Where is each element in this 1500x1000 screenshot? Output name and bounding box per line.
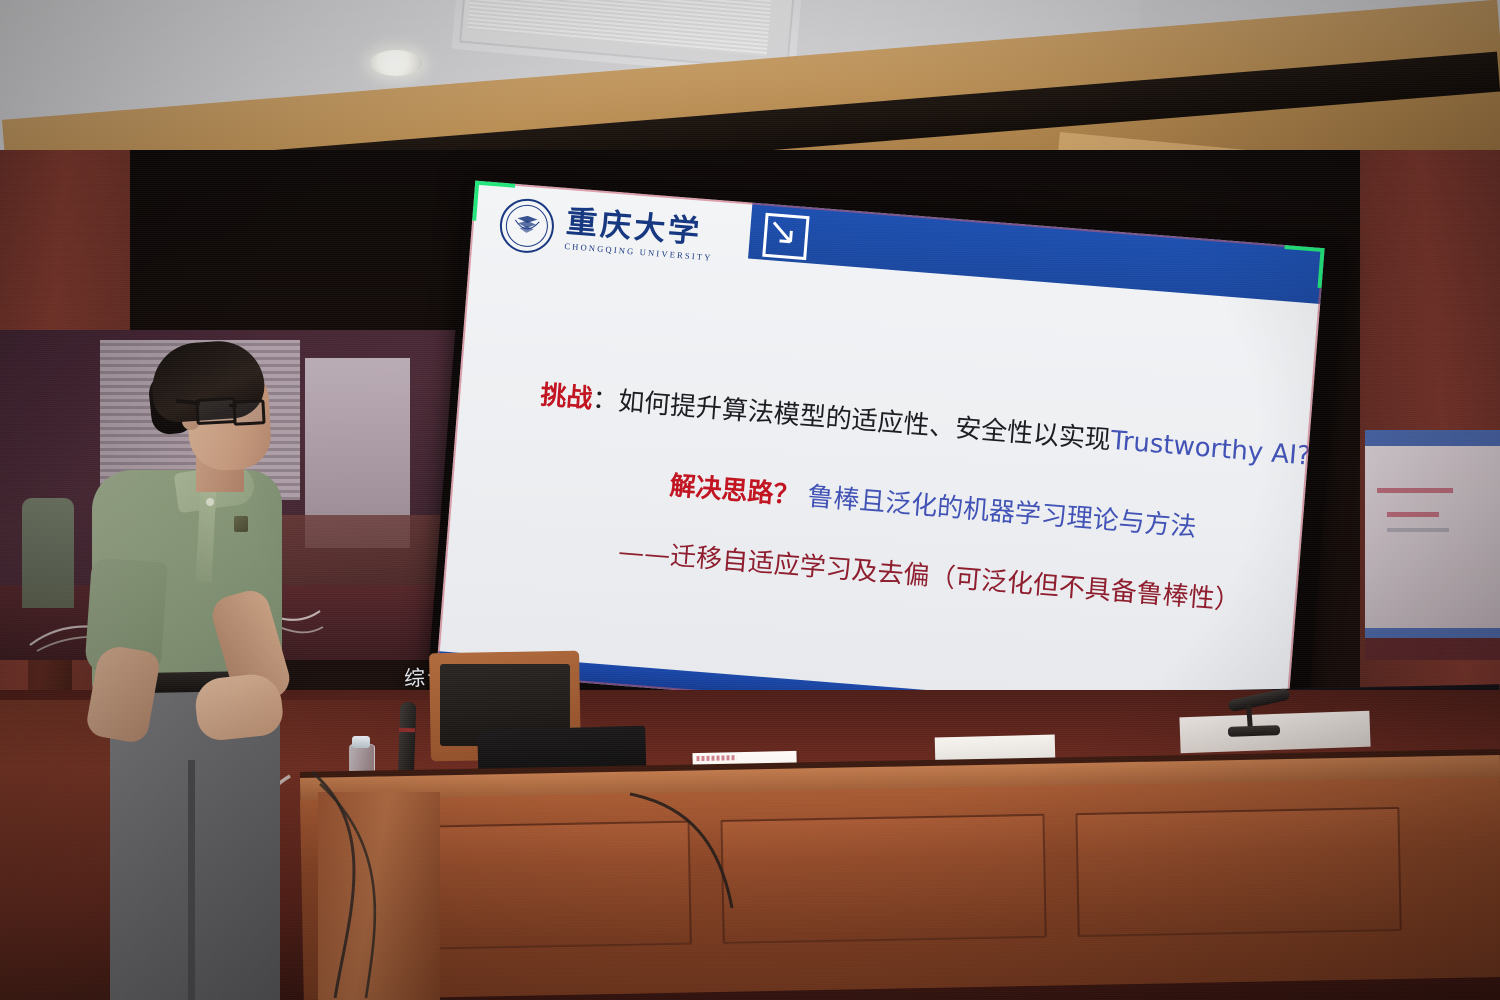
diagonal-arrow-icon [763,213,804,254]
line3-body: ——迁移自适应学习及去偏（可泛化但不具备鲁棒性） [617,537,1241,616]
right-display-footer-bar [1365,628,1500,638]
ceiling-downlight [370,50,422,76]
trouser-seam [188,760,195,1000]
table-panel [1075,807,1401,937]
presenter-clasped-hands [193,672,285,743]
line2-keyword: 解决思路？ [669,471,801,511]
slide-line-subpoint: ——迁移自适应学习及去偏（可泛化但不具备鲁棒性） [617,531,1242,617]
university-logo: 重庆大学 CHONGQING UNIVERSITY [498,197,716,268]
line1-body: ：如何提升算法模型的适应性、安全性以实现 [591,385,1112,456]
slide-line-challenge: 挑战：如何提升算法模型的适应性、安全性以实现Trustworthy AI? [539,375,1312,473]
presenter-shirt-emblem [234,516,248,532]
presenter-marker-top-left [472,181,515,224]
right-display-wall [1365,638,1500,660]
right-display-text-line [1387,512,1439,517]
microphone-base [1228,725,1280,737]
right-side-display [1365,430,1500,660]
line1-keyword: 挑战 [539,381,593,415]
right-display-text-line [1377,488,1453,493]
laptop-cable [620,790,780,910]
slide-line-solution: 解决思路？ 鲁棒且泛化的机器学习理论与方法 [668,465,1198,544]
presenter-shirt-button [206,498,214,506]
microphone-indicator-ring [399,728,415,733]
seal-emblem-icon [513,214,541,238]
line2-body: 鲁棒且泛化的机器学习理论与方法 [798,481,1197,542]
line1-term: Trustworthy AI? [1110,426,1312,472]
glasses-bridge [229,404,237,407]
right-display-header-bar [1365,430,1500,446]
water-bottle-cap [352,736,370,748]
conference-table-front [300,777,1500,1000]
glasses-left-lens [195,397,236,425]
slide-body: 挑战：如何提升算法模型的适应性、安全性以实现Trustworthy AI? 解决… [442,272,1317,669]
glasses-right-lens [232,399,265,426]
presenter-marker-top-right [1282,245,1325,288]
right-display-text-line [1387,528,1449,532]
name-plate-band [697,755,737,761]
lecture-hall-photo: 重庆大学 CHONGQING UNIVERSITY 挑战：如何提升算法模型的适应… [0,0,1500,1000]
